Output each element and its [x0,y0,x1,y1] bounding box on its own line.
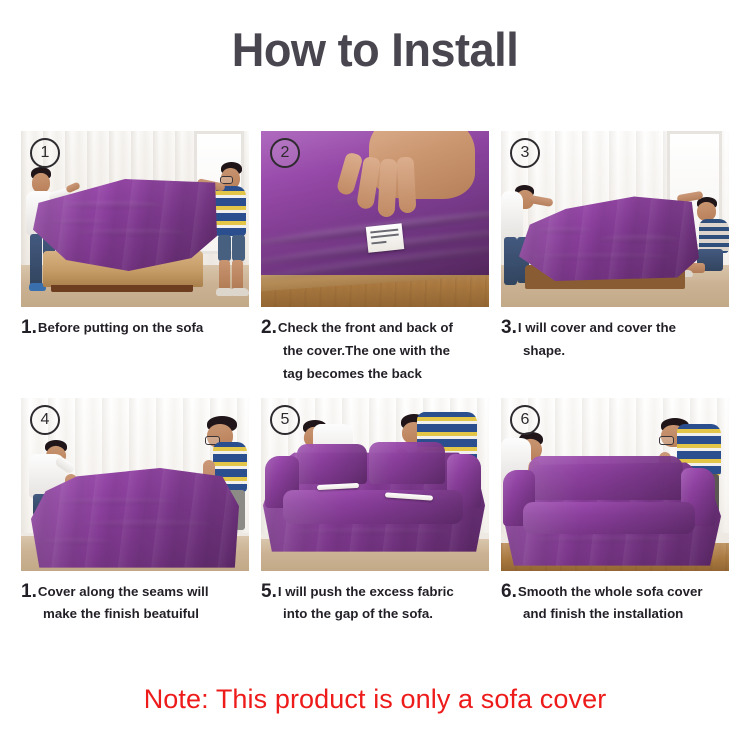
step-number-5: 5. [261,581,277,602]
step-photo-2: 2 [261,131,489,307]
step-line: and finish the installation [501,603,729,626]
page-title: How to Install [15,0,735,73]
step-line: Smooth the whole sofa cover [518,584,703,599]
step-line: tag becomes the back [261,363,489,386]
step-badge-5: 5 [270,405,300,435]
step-line: the cover.The one with the [261,340,489,363]
step-card-1: 1 1.Before putting on the sofa [21,131,249,386]
step-caption-4: 1.Cover along the seams will make the fi… [21,581,249,627]
step-caption-2: 2.Check the front and back of the cover.… [261,317,489,386]
step-line: make the finish beatuiful [21,603,249,626]
step-card-3: 3 3.I will cover and cover the shape. [501,131,729,386]
step-photo-5: 5 [261,398,489,571]
step-line: shape. [501,340,729,363]
step-photo-1: 1 [21,131,249,307]
step-badge-4: 4 [30,405,60,435]
step-card-2: 2 2.Check the front and back of the cove… [261,131,489,386]
step-caption-3: 3.I will cover and cover the shape. [501,317,729,363]
step-number-1: 1. [21,317,37,338]
care-tag [366,223,405,253]
steps-grid: 1 1.Before putting on the sofa [21,131,731,626]
step-badge-6: 6 [510,405,540,435]
step-badge-3: 3 [510,138,540,168]
step-badge-1: 1 [30,138,60,168]
step-photo-6: 6 [501,398,729,571]
step-line: Before putting on the sofa [38,320,203,335]
step-number-3: 3. [501,317,517,338]
step-line: Check the front and back of [278,320,453,335]
step-photo-3: 3 [501,131,729,307]
step-line: Cover along the seams will [38,584,209,599]
step-photo-4: 4 [21,398,249,571]
step-card-6: 6 6.Smooth the whole sofa cover and fini… [501,398,729,627]
step-card-5: 5 5.I will push the excess fabric into t… [261,398,489,627]
step-caption-6: 6.Smooth the whole sofa cover and finish… [501,581,729,627]
step-number-4: 1. [21,581,37,602]
footer-note: Note: This product is only a sofa cover [0,684,750,715]
step-line: I will push the excess fabric [278,584,454,599]
step-line: into the gap of the sofa. [261,603,489,626]
step-caption-1: 1.Before putting on the sofa [21,317,249,340]
step-line: I will cover and cover the [518,320,676,335]
step-card-4: 4 1.Cover along the seams will make the … [21,398,249,627]
step-badge-2: 2 [270,138,300,168]
step-caption-5: 5.I will push the excess fabric into the… [261,581,489,627]
step-number-6: 6. [501,581,517,602]
step-number-2: 2. [261,317,277,338]
